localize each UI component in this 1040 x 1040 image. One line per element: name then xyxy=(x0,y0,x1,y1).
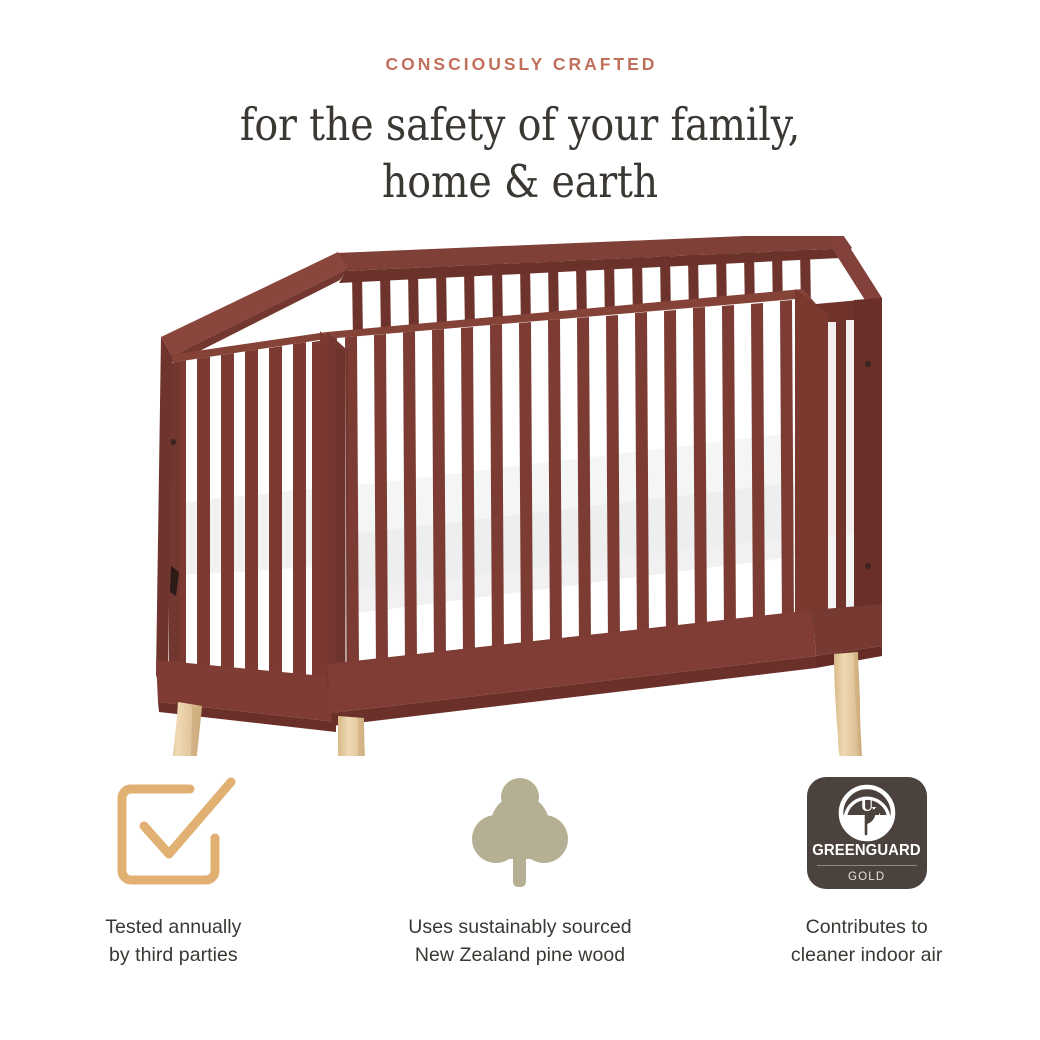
feature-label-sustainable: Uses sustainably sourced New Zealand pin… xyxy=(408,914,631,969)
headline-line-1: for the safety of your family, xyxy=(240,98,800,151)
feature-item-tested: Tested annually by third parties xyxy=(0,770,347,969)
badge-divider xyxy=(817,865,917,866)
eyebrow-text: CONSCIOUSLY CRAFTED xyxy=(0,56,1040,74)
crib-left-side-panel xyxy=(156,331,336,732)
product-feature-page: CONSCIOUSLY CRAFTED for the safety of yo… xyxy=(0,0,1040,1040)
crib-illustration xyxy=(140,236,900,756)
feature-item-greenguard: U L GREENGUARD GOLD Contributes to clean… xyxy=(693,770,1040,969)
headline-line-2: home & earth xyxy=(62,153,977,211)
feature-icon-wrap: U L GREENGUARD GOLD xyxy=(807,770,927,896)
page-title: for the safety of your family, home & ea… xyxy=(62,74,977,211)
crib-front-panel xyxy=(327,289,816,726)
checkbox-check-icon xyxy=(107,774,239,892)
tree-icon xyxy=(468,777,572,889)
feature-icon-wrap xyxy=(107,770,239,896)
feature-item-sustainable: Uses sustainably sourced New Zealand pin… xyxy=(347,770,694,969)
greenguard-name-text: GREENGUARD xyxy=(812,843,920,859)
greenguard-tier-text: GOLD xyxy=(848,872,885,884)
feature-label-tested: Tested annually by third parties xyxy=(105,914,241,969)
page-header: CONSCIOUSLY CRAFTED for the safety of yo… xyxy=(0,56,1040,211)
feature-list: Tested annually by third parties Uses su… xyxy=(0,770,1040,969)
crib-right-side-panel xyxy=(812,298,882,668)
product-image xyxy=(0,236,1040,756)
greenguard-gold-badge-icon: U L GREENGUARD GOLD xyxy=(807,777,927,889)
ul-mark-icon: U L xyxy=(838,784,896,842)
feature-label-greenguard: Contributes to cleaner indoor air xyxy=(791,914,943,969)
feature-icon-wrap xyxy=(468,770,572,896)
